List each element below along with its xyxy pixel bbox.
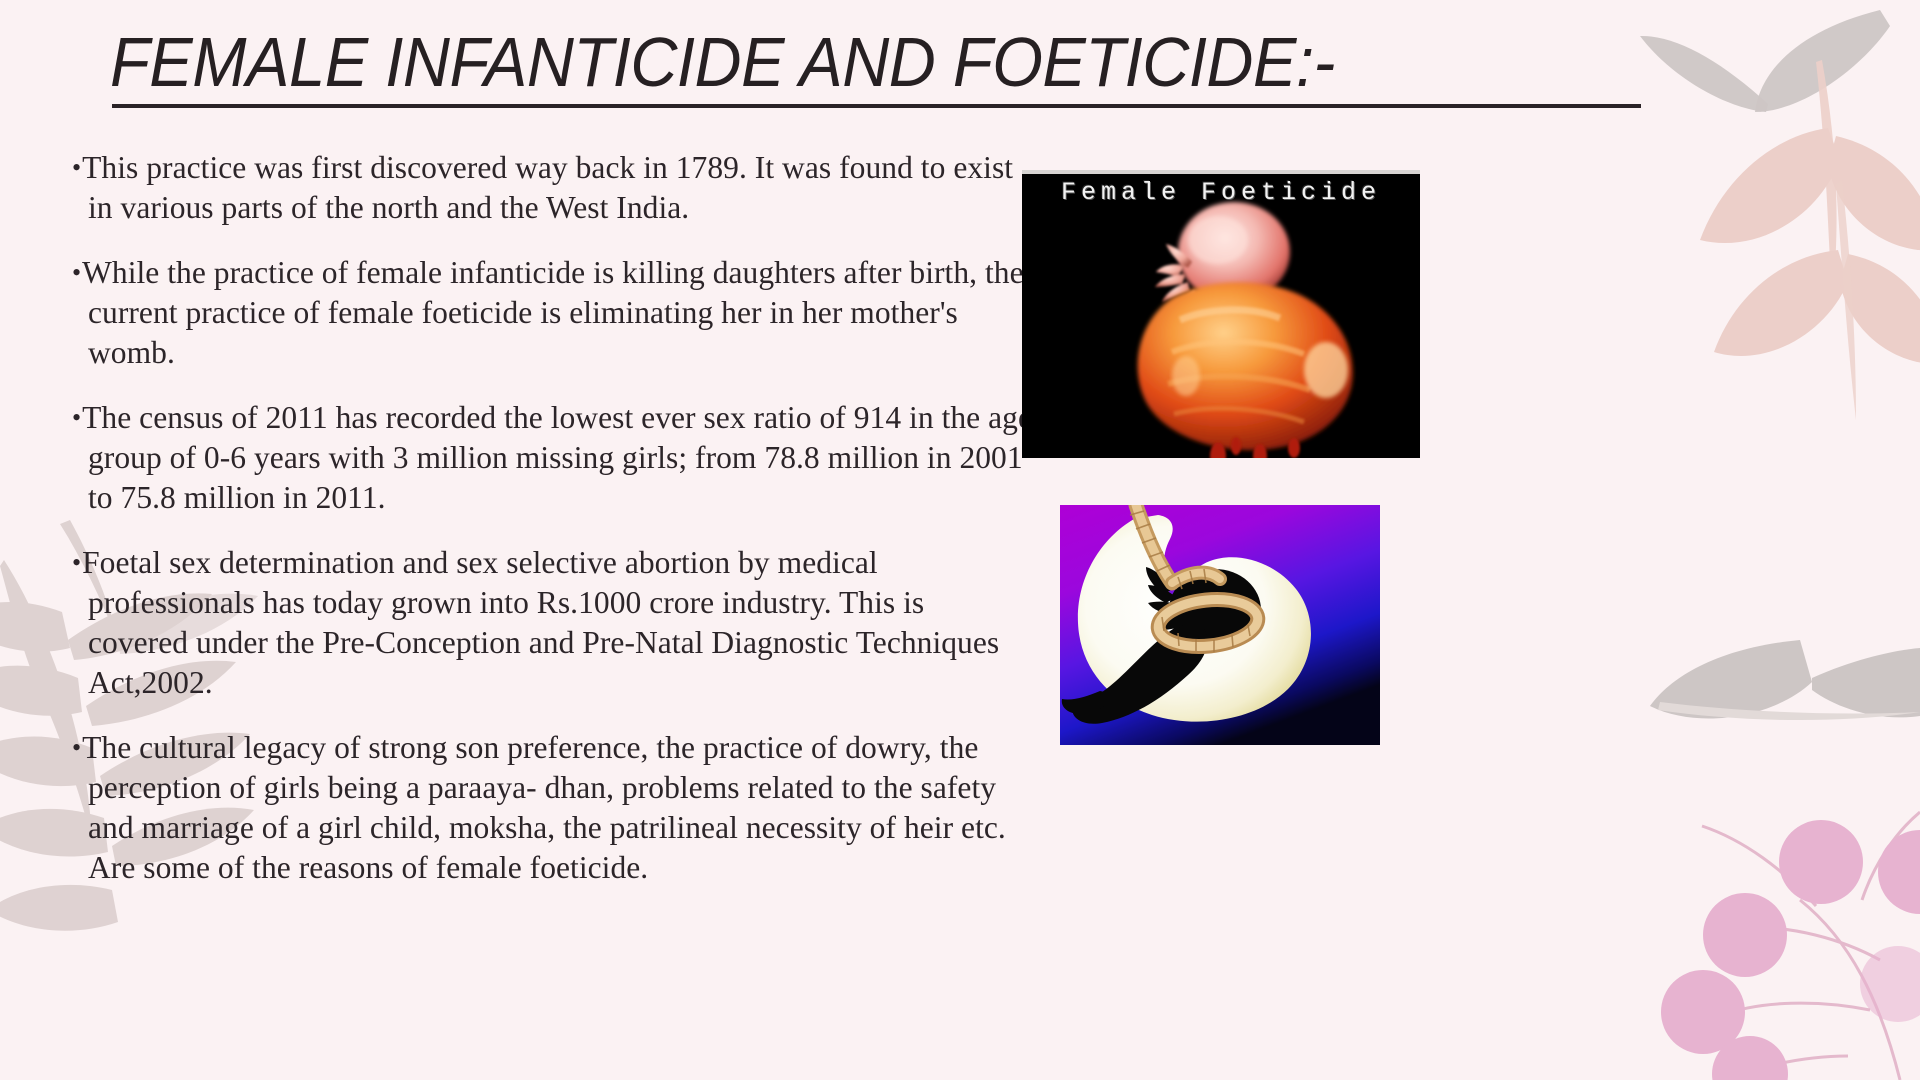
slide-root: FEMALE INFANTICIDE AND FOETICIDE:- •This… (0, 0, 1920, 1080)
foetus-noose-illustration (1060, 505, 1380, 745)
list-item: •The census of 2011 has recorded the low… (72, 398, 1032, 518)
title-underline (112, 104, 1641, 108)
list-item-text: While the practice of female infanticide… (82, 255, 1024, 370)
photo-caption: Female Foeticide (1022, 178, 1420, 207)
list-item-text: This practice was first discovered way b… (82, 150, 1013, 225)
bullet-marker: • (72, 258, 82, 287)
list-item: •This practice was first discovered way … (72, 148, 1032, 228)
list-item: •Foetal sex determination and sex select… (72, 543, 1032, 703)
foetus-photo-art (1022, 170, 1420, 458)
list-item-text: The cultural legacy of strong son prefer… (82, 730, 1006, 885)
bullet-marker: • (72, 403, 82, 432)
page-title: FEMALE INFANTICIDE AND FOETICIDE:- (110, 26, 1319, 100)
list-item: •The cultural legacy of strong son prefe… (72, 728, 1032, 888)
photo-top-strip (1022, 170, 1420, 174)
bullet-marker: • (72, 733, 82, 762)
list-item-text: Foetal sex determination and sex selecti… (82, 545, 999, 700)
female-foeticide-photo: Female Foeticide (1022, 170, 1420, 458)
bullet-marker: • (72, 153, 82, 182)
list-item: •While the practice of female infanticid… (72, 253, 1032, 373)
bullet-marker: • (72, 548, 82, 577)
foetus-noose-art (1060, 505, 1380, 745)
bullet-list: •This practice was first discovered way … (72, 148, 1032, 888)
list-item-text: The census of 2011 has recorded the lowe… (82, 400, 1032, 515)
